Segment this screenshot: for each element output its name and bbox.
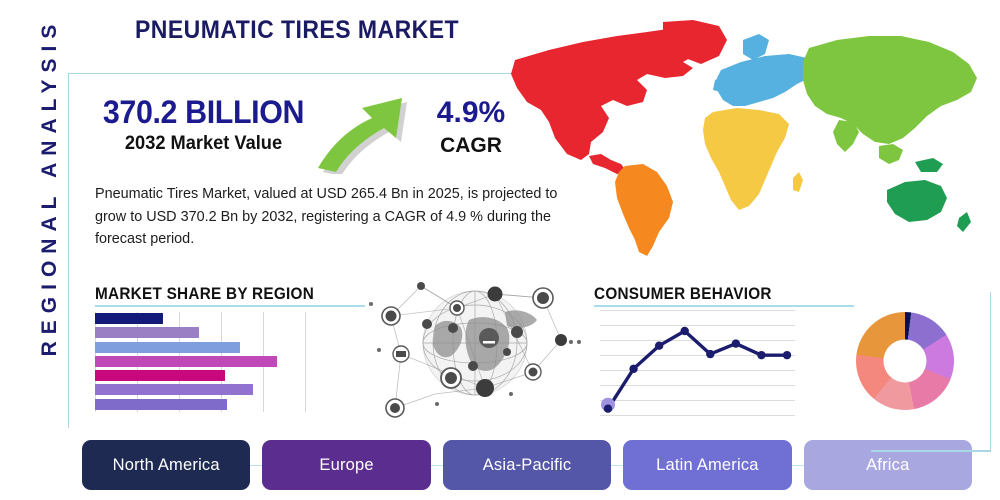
bar-segment <box>95 313 163 324</box>
cagr-block: 4.9% CAGR <box>416 98 526 156</box>
market-share-heading: MARKET SHARE BY REGION <box>95 284 314 304</box>
bar-gridline <box>305 312 306 412</box>
right-frame-line-bottom <box>871 450 991 452</box>
right-frame-line <box>990 292 992 452</box>
region-pill-asia-pacific[interactable]: Asia-Pacific <box>443 440 611 490</box>
bar-segment <box>95 370 225 381</box>
consumer-behavior-heading: CONSUMER BEHAVIOR <box>594 284 772 304</box>
map-region-new-zealand <box>957 212 971 232</box>
vertical-section-label: REGIONAL ANALYSIS <box>38 0 62 387</box>
cagr-value: 4.9% <box>416 98 526 128</box>
donut-hole <box>883 339 926 382</box>
market-share-bar-chart <box>95 312 305 412</box>
region-pill-north-america[interactable]: North America <box>82 440 250 490</box>
map-region-madagascar <box>793 172 803 192</box>
market-value-caption: 2032 Market Value <box>100 134 306 153</box>
bar-segment <box>95 384 253 395</box>
map-region-australia <box>887 180 947 222</box>
map-region-new-guinea <box>915 158 943 172</box>
map-region-south-america <box>615 164 673 256</box>
consumer-behavior-underline <box>594 305 854 307</box>
market-share-underline <box>95 305 365 307</box>
region-pill-row: North AmericaEuropeAsia-PacificLatin Ame… <box>82 440 972 490</box>
global-network-globe <box>365 268 585 418</box>
market-description: Pneumatic Tires Market, valued at USD 26… <box>95 183 575 251</box>
line-gridline <box>600 415 795 416</box>
bar-segment <box>95 342 240 353</box>
region-pill-latin-america[interactable]: Latin America <box>623 440 791 490</box>
consumer-segment-donut-chart <box>856 312 954 410</box>
consumer-behavior-line-chart <box>600 310 795 415</box>
infographic-root: REGIONAL ANALYSIS PNEUMATIC TIRES MARKET <box>0 0 1000 500</box>
cagr-caption: CAGR <box>416 135 526 156</box>
line-series <box>600 310 795 415</box>
bar-segment <box>95 399 227 410</box>
map-region-asia <box>803 36 977 144</box>
map-region-africa <box>703 108 789 210</box>
bar-segment <box>95 356 277 367</box>
growth-arrow-icon <box>310 88 418 174</box>
page-title: PNEUMATIC TIRES MARKET <box>135 16 459 45</box>
map-region-europe <box>717 54 815 106</box>
region-pill-africa[interactable]: Africa <box>804 440 972 490</box>
kpi-row: 370.2 BILLION 2032 Market Value 4.9% CAG… <box>96 96 516 168</box>
region-pill-europe[interactable]: Europe <box>262 440 430 490</box>
bar-segment <box>95 327 199 338</box>
map-region-southeast-asia <box>879 144 903 164</box>
market-value: 370.2 BILLION <box>101 96 305 128</box>
market-value-block: 370.2 BILLION 2032 Market Value <box>96 96 311 153</box>
